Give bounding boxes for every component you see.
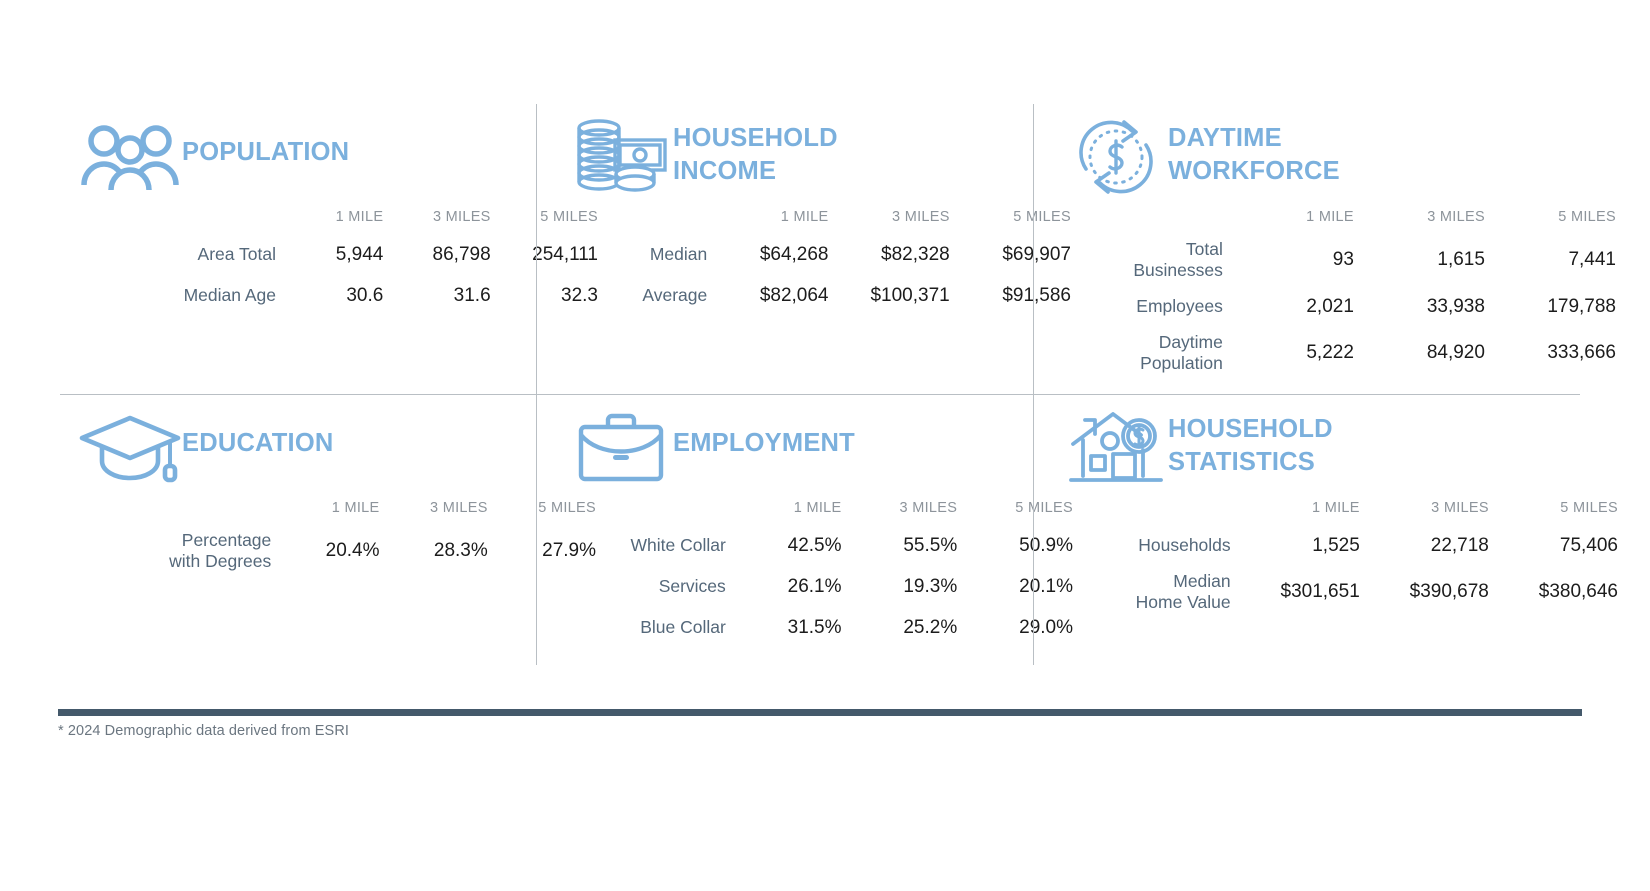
column-header-3miles: 3 MILES [1354,200,1485,234]
row-value: 20.4% [271,525,379,577]
panel-daytime-workforce-header: DAYTIME WORKFORCE [1034,104,1580,200]
table-header-row: 1 MILE 3 MILES 5 MILES [122,200,598,234]
row-value: 75,406 [1489,525,1618,566]
panel-population-title: POPULATION [182,136,349,169]
panel-education-header: EDUCATION [60,395,536,491]
panel-household-statistics: HOUSEHOLD STATISTICS 1 MILE 3 MILES 5 MI… [1033,395,1580,665]
row-value: 84,920 [1354,327,1485,379]
row-value: $100,371 [829,275,950,316]
panel-daytime-workforce-title: DAYTIME WORKFORCE [1168,122,1340,188]
row-value: 1,525 [1231,525,1360,566]
row-value: 1,615 [1354,234,1485,286]
table-header-row: 1 MILE 3 MILES 5 MILES [577,491,1073,525]
row-value: 28.3% [380,525,488,577]
panel-row-top: POPULATION 1 MILE 3 MILES 5 MILES Area T… [60,104,1580,394]
column-header-3miles: 3 MILES [829,200,950,234]
row-label: Services [577,566,726,607]
column-header-5miles: 5 MILES [1485,200,1616,234]
people-group-icon [78,118,182,196]
row-value: 26.1% [726,566,842,607]
footnote: * 2024 Demographic data derived from ESR… [58,723,349,739]
row-label: Median [575,234,707,275]
row-label: Average [575,275,707,316]
column-header-1mile: 1 MILE [276,200,383,234]
row-value: 5,222 [1223,327,1354,379]
table-row: Percentage with Degrees 20.4% 28.3% 27.9… [120,525,596,577]
row-value: 25.2% [842,607,958,648]
row-value: 31.6 [383,275,490,316]
row-label: Percentage with Degrees [120,525,271,577]
row-value: 5,944 [276,234,383,275]
column-header-1mile: 1 MILE [707,200,828,234]
row-value: 93 [1223,234,1354,286]
graduation-cap-icon [78,409,182,487]
row-label: Employees [1070,286,1223,327]
row-value: $82,064 [707,275,828,316]
table-header-row: 1 MILE 3 MILES 5 MILES [1072,491,1618,525]
coins-and-bill-icon [569,118,673,196]
row-value: 19.3% [842,566,958,607]
table-row: Households 1,525 22,718 75,406 [1072,525,1618,566]
row-value: 33,938 [1354,286,1485,327]
table-row: Median Age 30.6 31.6 32.3 [122,275,598,316]
panel-employment: EMPLOYMENT 1 MILE 3 MILES 5 MILES White … [536,395,1033,665]
row-value: $390,678 [1360,566,1489,618]
column-header-1mile: 1 MILE [1231,491,1360,525]
row-value: 55.5% [842,525,958,566]
panel-population-header: POPULATION [60,104,536,200]
row-label: Households [1072,525,1231,566]
row-label: Area Total [122,234,276,275]
column-header-3miles: 3 MILES [383,200,490,234]
panel-household-statistics-header: HOUSEHOLD STATISTICS [1034,395,1580,491]
table-row: White Collar 42.5% 55.5% 50.9% [577,525,1073,566]
row-value: 31.5% [726,607,842,648]
row-value: 30.6 [276,275,383,316]
row-value: 42.5% [726,525,842,566]
household-income-table: 1 MILE 3 MILES 5 MILES Median $64,268 $8… [575,200,1071,316]
table-row: Median $64,268 $82,328 $69,907 [575,234,1071,275]
panel-grid: POPULATION 1 MILE 3 MILES 5 MILES Area T… [60,104,1580,665]
row-label: Median Home Value [1072,566,1231,618]
table-header-row: 1 MILE 3 MILES 5 MILES [1070,200,1616,234]
panel-household-statistics-title: HOUSEHOLD STATISTICS [1168,413,1333,479]
panel-employment-header: EMPLOYMENT [537,395,1033,491]
employment-table: 1 MILE 3 MILES 5 MILES White Collar 42.5… [577,491,1073,648]
daytime-workforce-table: 1 MILE 3 MILES 5 MILES Total Businesses … [1070,200,1616,379]
table-row: Blue Collar 31.5% 25.2% 29.0% [577,607,1073,648]
column-header-3miles: 3 MILES [1360,491,1489,525]
row-label: Blue Collar [577,607,726,648]
row-label: Median Age [122,275,276,316]
column-header-1mile: 1 MILE [726,491,842,525]
household-statistics-table: 1 MILE 3 MILES 5 MILES Households 1,525 … [1072,491,1618,618]
table-row: Average $82,064 $100,371 $91,586 [575,275,1071,316]
row-value: $301,651 [1231,566,1360,618]
panel-household-income: HOUSEHOLD INCOME 1 MILE 3 MILES 5 MILES … [536,104,1033,394]
column-header-1mile: 1 MILE [1223,200,1354,234]
row-value: $64,268 [707,234,828,275]
panel-employment-title: EMPLOYMENT [673,427,855,460]
row-value: 22,718 [1360,525,1489,566]
row-label: Daytime Population [1070,327,1223,379]
panel-household-income-title: HOUSEHOLD INCOME [673,122,838,188]
row-label: White Collar [577,525,726,566]
panel-daytime-workforce: DAYTIME WORKFORCE 1 MILE 3 MILES 5 MILES… [1033,104,1580,394]
table-row: Employees 2,021 33,938 179,788 [1070,286,1616,327]
table-header-row: 1 MILE 3 MILES 5 MILES [120,491,596,525]
row-value: 2,021 [1223,286,1354,327]
panel-row-bottom: EDUCATION 1 MILE 3 MILES 5 MILES Percent… [60,395,1580,665]
row-value: $82,328 [829,234,950,275]
table-row: Total Businesses 93 1,615 7,441 [1070,234,1616,286]
row-label: Total Businesses [1070,234,1223,286]
row-value: 179,788 [1485,286,1616,327]
footer-rule [58,709,1582,716]
table-row: Daytime Population 5,222 84,920 333,666 [1070,327,1616,379]
dollar-refresh-cycle-icon [1064,118,1168,196]
column-header-5miles: 5 MILES [1489,491,1618,525]
table-row: Median Home Value $301,651 $390,678 $380… [1072,566,1618,618]
panel-education-title: EDUCATION [182,427,334,460]
house-with-dollar-icon [1064,409,1168,487]
row-value: 7,441 [1485,234,1616,286]
briefcase-icon [569,409,673,487]
row-value: $380,646 [1489,566,1618,618]
population-table: 1 MILE 3 MILES 5 MILES Area Total 5,944 … [122,200,598,316]
table-header-row: 1 MILE 3 MILES 5 MILES [575,200,1071,234]
panel-education: EDUCATION 1 MILE 3 MILES 5 MILES Percent… [60,395,536,665]
row-value: 333,666 [1485,327,1616,379]
column-header-1mile: 1 MILE [271,491,379,525]
column-header-3miles: 3 MILES [380,491,488,525]
table-row: Area Total 5,944 86,798 254,111 [122,234,598,275]
education-table: 1 MILE 3 MILES 5 MILES Percentage with D… [120,491,596,577]
panel-household-income-header: HOUSEHOLD INCOME [537,104,1033,200]
table-row: Services 26.1% 19.3% 20.1% [577,566,1073,607]
column-header-3miles: 3 MILES [842,491,958,525]
demographics-infographic: POPULATION 1 MILE 3 MILES 5 MILES Area T… [0,0,1650,891]
row-value: 86,798 [383,234,490,275]
panel-population: POPULATION 1 MILE 3 MILES 5 MILES Area T… [60,104,536,394]
